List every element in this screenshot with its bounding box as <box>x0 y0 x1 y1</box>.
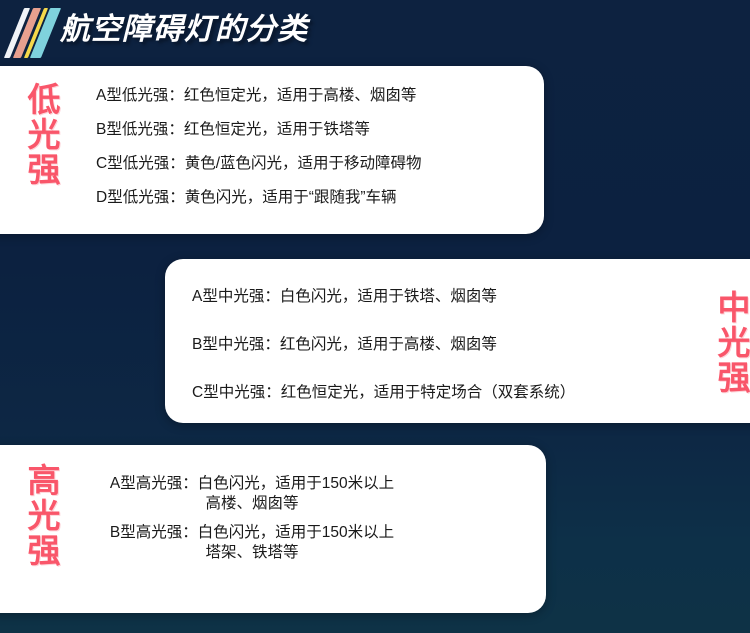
side-label-char: 光 <box>24 117 64 152</box>
card-high-lines: A型高光强：白色闪光，适用于150米以上 高楼、烟囱等 B型高光强：白色闪光，适… <box>82 474 422 563</box>
side-label-char: 强 <box>24 533 64 568</box>
list-item: C型中光强：红色恒定光，适用于特定场合（双套系统） <box>192 383 575 403</box>
card-medium-intensity: 中 光 强 A型中光强：白色闪光，适用于铁塔、烟囱等 B型中光强：红色闪光，适用… <box>165 259 750 423</box>
list-item-line2: 高楼、烟囱等 <box>82 494 422 514</box>
card-high-side-label: 高 光 强 <box>24 463 64 568</box>
card-low-intensity: 低 光 强 A型低光强：红色恒定光，适用于高楼、烟囱等 B型低光强：红色恒定光，… <box>0 66 544 234</box>
list-item: A型低光强：红色恒定光，适用于高楼、烟囱等 <box>96 86 422 106</box>
list-item: A型中光强：白色闪光，适用于铁塔、烟囱等 <box>192 287 575 307</box>
card-medium-lines: A型中光强：白色闪光，适用于铁塔、烟囱等 B型中光强：红色闪光，适用于高楼、烟囱… <box>192 287 575 403</box>
side-label-char: 强 <box>714 360 750 395</box>
list-item: B型低光强：红色恒定光，适用于铁塔等 <box>96 120 422 140</box>
side-label-char: 强 <box>24 152 64 187</box>
list-item-line2: 塔架、铁塔等 <box>82 543 422 563</box>
poster-header: 航空障碍灯的分类 <box>0 0 750 64</box>
card-medium-side-label: 中 光 强 <box>714 290 750 395</box>
list-item: A型高光强：白色闪光，适用于150米以上 高楼、烟囱等 <box>82 474 422 514</box>
page-title: 航空障碍灯的分类 <box>60 6 308 54</box>
card-high-intensity: 高 光 强 A型高光强：白色闪光，适用于150米以上 高楼、烟囱等 B型高光强：… <box>0 445 546 613</box>
decorative-slashes-icon <box>12 12 58 54</box>
list-item: B型高光强：白色闪光，适用于150米以上 塔架、铁塔等 <box>82 523 422 563</box>
side-label-char: 低 <box>24 82 64 117</box>
side-label-char: 高 <box>24 463 64 498</box>
side-label-char: 光 <box>714 325 750 360</box>
card-low-lines: A型低光强：红色恒定光，适用于高楼、烟囱等 B型低光强：红色恒定光，适用于铁塔等… <box>96 86 422 208</box>
list-item-line1: B型高光强：白色闪光，适用于150米以上 <box>82 523 422 543</box>
infographic-poster: 航空障碍灯的分类 低 光 强 A型低光强：红色恒定光，适用于高楼、烟囱等 B型低… <box>0 0 750 633</box>
side-label-char: 中 <box>714 290 750 325</box>
list-item: D型低光强：黄色闪光，适用于“跟随我”车辆 <box>96 188 422 208</box>
list-item-line1: A型高光强：白色闪光，适用于150米以上 <box>82 474 422 494</box>
side-label-char: 光 <box>24 498 64 533</box>
list-item: B型中光强：红色闪光，适用于高楼、烟囱等 <box>192 335 575 355</box>
list-item: C型低光强：黄色/蓝色闪光，适用于移动障碍物 <box>96 154 422 174</box>
card-low-side-label: 低 光 强 <box>24 82 64 187</box>
